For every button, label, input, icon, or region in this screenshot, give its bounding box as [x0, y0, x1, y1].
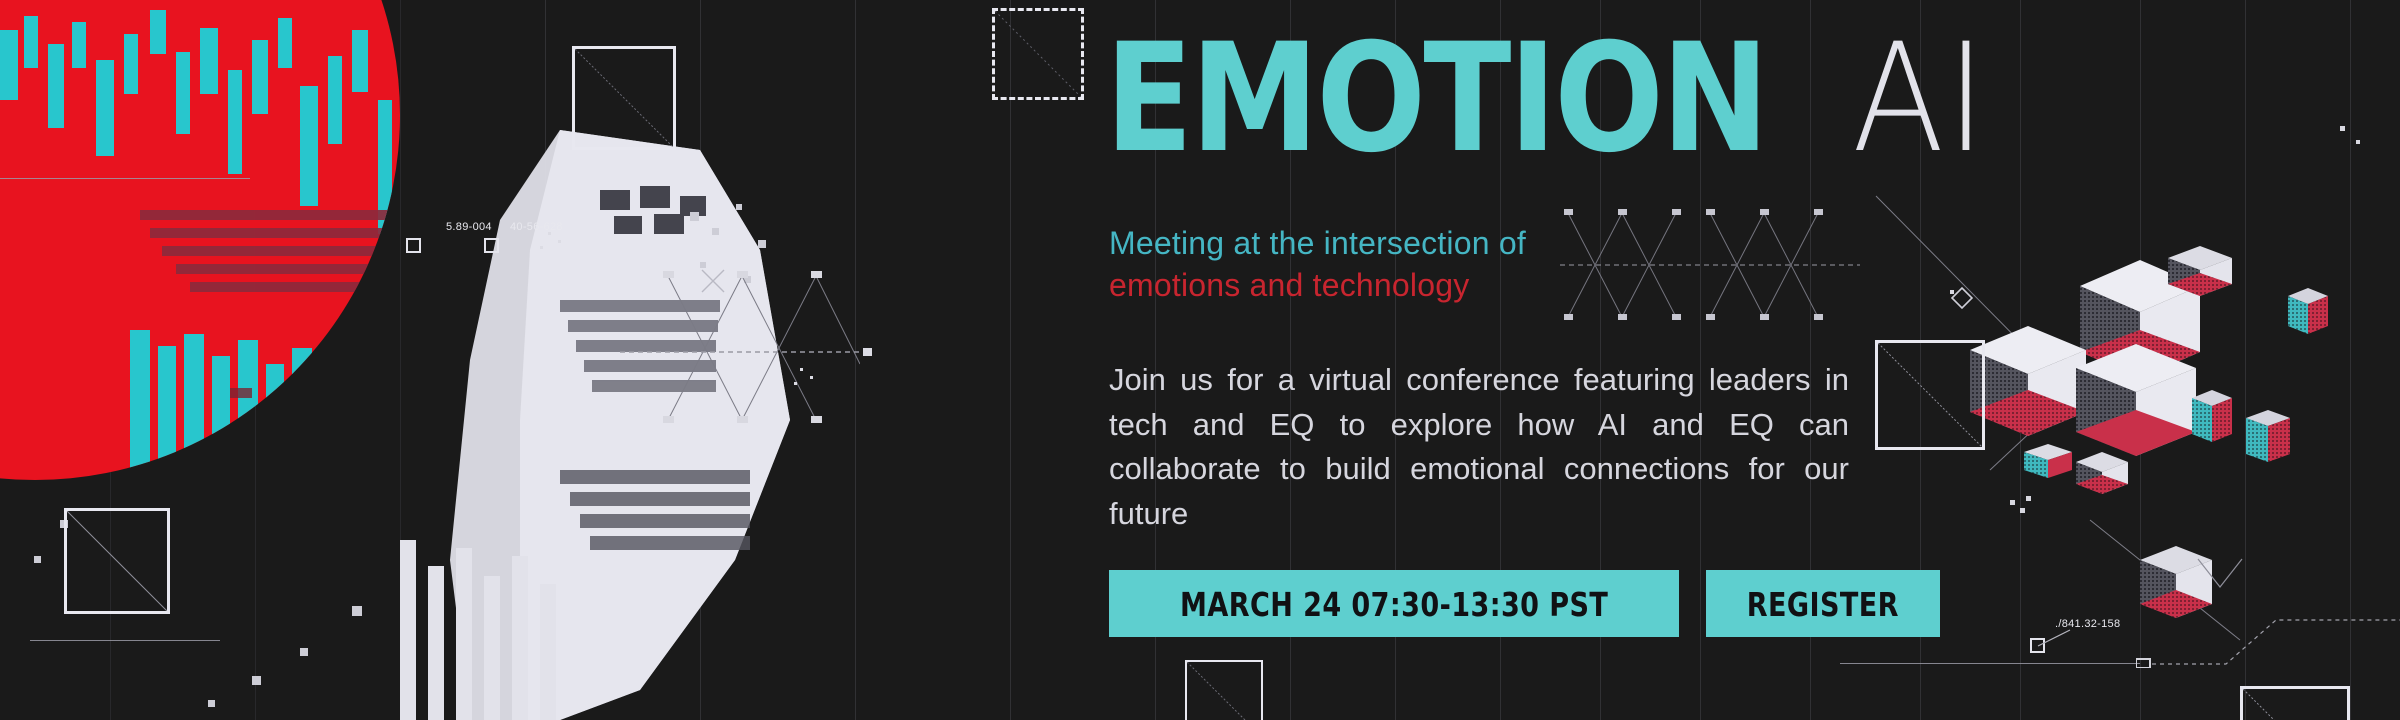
annotation-node-a	[406, 238, 421, 253]
right-annotation-node	[2030, 638, 2045, 653]
hairline-h2	[30, 640, 220, 641]
cta-row: MARCH 24 07:30-13:30 PST REGISTER	[1109, 570, 1940, 637]
decorative-square-dashed-top	[992, 8, 1084, 100]
title-emotion: EMOTION	[1105, 36, 1767, 162]
subtitle: Meeting at the intersection of emotions …	[1109, 222, 1526, 306]
voxel-face-artwork: 5.89-004 40-56-628	[0, 0, 880, 720]
cube-large-2	[1970, 326, 2086, 436]
floating-cubes-artwork: ./841.32-158	[1840, 0, 2400, 720]
subtitle-line-1: Meeting at the intersection of	[1109, 222, 1526, 264]
annotation-dot-a	[548, 232, 551, 235]
date-button-label: MARCH 24 07:30-13:30 PST	[1180, 588, 1608, 621]
subtitle-line-2: emotions and technology	[1109, 264, 1526, 306]
deco-dot-1	[800, 368, 803, 371]
conference-banner: 5.89-004 40-56-628	[0, 0, 2400, 720]
hairline-right-h	[1840, 663, 2140, 664]
voxel-face-svg	[0, 0, 880, 720]
hairline-h1	[0, 178, 250, 179]
face-label-left: 5.89-004	[446, 221, 492, 233]
face-label-right: 40-56-628	[510, 221, 563, 233]
annotation-dot-c	[540, 246, 543, 249]
annotation-dot-b	[558, 240, 561, 243]
cube-medium-2	[2076, 452, 2128, 494]
annotation-node-b	[484, 238, 499, 253]
cube-medium-3	[2024, 444, 2072, 478]
deco-dot-2	[810, 376, 813, 379]
body-paragraph: Join us for a virtual conference featuri…	[1109, 358, 1849, 537]
diamond-marker	[1952, 288, 1972, 308]
cubes-svg	[1840, 0, 2400, 720]
date-button[interactable]: MARCH 24 07:30-13:30 PST	[1109, 570, 1679, 637]
deco-dot-3	[794, 382, 797, 385]
right-annotation-label: ./841.32-158	[2055, 618, 2120, 630]
